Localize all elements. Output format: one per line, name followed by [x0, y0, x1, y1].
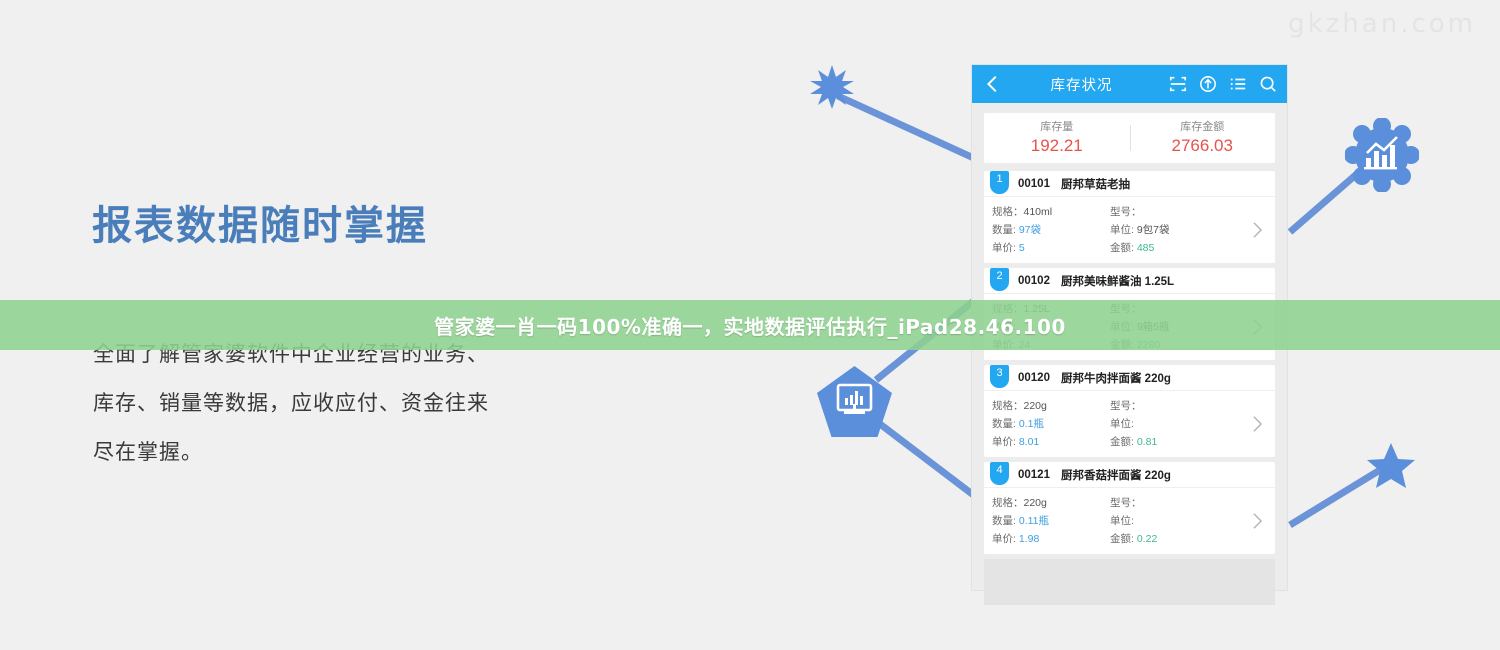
price-value: 5 [1019, 242, 1025, 254]
list-item[interactable]: 1 00101 厨邦草菇老抽 规格：410ml 型号： 数量: 97袋 单位: … [984, 171, 1275, 263]
model-label: 型号： [1110, 497, 1142, 509]
amount-value: 0.81 [1137, 436, 1157, 448]
item-name: 厨邦美味鲜酱油 1.25L [1061, 273, 1174, 289]
app-header-actions [1169, 75, 1277, 93]
list-item[interactable]: 3 00120 厨邦牛肉拌面酱 220g 规格：220g 型号： 数量: 0.1… [984, 365, 1275, 457]
spec-value: 220g [1024, 497, 1047, 509]
promo-banner-text: 管家婆一肖一码100%准确一，实地数据评估执行_iPad28.46.100 [0, 300, 1500, 350]
item-name: 厨邦草菇老抽 [1061, 176, 1130, 192]
summary-label: 库存金额 [1130, 119, 1276, 135]
chevron-left-icon[interactable] [982, 73, 1004, 95]
list-item-header: 1 00101 厨邦草菇老抽 [984, 171, 1275, 197]
scalloped-badge-chart-icon [1345, 118, 1419, 192]
qty-value: 0.11瓶 [1019, 515, 1049, 527]
summary-stock-qty: 库存量 192.21 [984, 119, 1130, 157]
list-item-details: 规格：220g 型号： 数量: 0.11瓶 单位: 单价: 1.98 金额: 0… [984, 488, 1275, 554]
detail-row: 数量: 97袋 单位: 9包7袋 [992, 221, 1275, 239]
star-icon [1366, 441, 1416, 491]
spec-label: 规格： [992, 400, 1024, 412]
amount-label: 金额: [1110, 436, 1134, 448]
unit-label: 单位: [1110, 418, 1134, 430]
item-name: 厨邦牛肉拌面酱 220g [1061, 370, 1171, 386]
chevron-right-icon[interactable] [1252, 221, 1263, 239]
summary-stock-amount: 库存金额 2766.03 [1130, 119, 1276, 157]
qty-label: 数量: [992, 224, 1016, 236]
detail-row: 规格：220g 型号： [992, 397, 1275, 415]
scan-frame-icon[interactable] [1169, 75, 1187, 93]
item-name: 厨邦香菇拌面酱 220g [1061, 467, 1171, 483]
item-index-badge: 1 [990, 171, 1009, 194]
promo-line-2: 库存、销量等数据，应收应付、资金往来 [93, 379, 489, 428]
detail-row: 单价: 5 金额: 485 [992, 239, 1275, 257]
price-value: 8.01 [1019, 436, 1039, 448]
summary-label: 库存量 [984, 119, 1130, 135]
list-item-header: 4 00121 厨邦香菇拌面酱 220g [984, 462, 1275, 488]
list-item-header: 3 00120 厨邦牛肉拌面酱 220g [984, 365, 1275, 391]
qty-label: 数量: [992, 418, 1016, 430]
spec-label: 规格： [992, 206, 1024, 218]
detail-row: 数量: 0.11瓶 单位: [992, 512, 1275, 530]
spec-value: 220g [1024, 400, 1047, 412]
amount-label: 金额: [1110, 533, 1134, 545]
chevron-right-icon[interactable] [1252, 415, 1263, 433]
search-icon[interactable] [1259, 75, 1277, 93]
detail-row: 单价: 1.98 金额: 0.22 [992, 530, 1275, 548]
app-footer-placeholder [984, 559, 1275, 605]
item-index-badge: 3 [990, 365, 1009, 388]
site-watermark: gkzhan.com [1288, 9, 1476, 39]
item-index-badge: 2 [990, 268, 1009, 291]
pentagon-monitor-chart-icon [817, 366, 892, 438]
unit-label: 单位: [1110, 515, 1134, 527]
list-item[interactable]: 4 00121 厨邦香菇拌面酱 220g 规格：220g 型号： 数量: 0.1… [984, 462, 1275, 554]
price-value: 1.98 [1019, 533, 1039, 545]
qty-value: 0.1瓶 [1019, 418, 1044, 430]
list-item-details: 规格：220g 型号： 数量: 0.1瓶 单位: 单价: 8.01 金额: 0.… [984, 391, 1275, 457]
summary-value: 192.21 [984, 135, 1130, 157]
item-index-badge: 4 [990, 462, 1009, 485]
page-title: 报表数据随时掌握 [92, 193, 428, 251]
promo-paragraph: 全面了解管家婆软件中企业经营的业务、 库存、销量等数据，应收应付、资金往来 尽在… [93, 330, 489, 477]
qty-label: 数量: [992, 515, 1016, 527]
unit-label: 单位: [1110, 224, 1134, 236]
model-label: 型号： [1110, 400, 1142, 412]
slide-canvas: gkzhan.com 报表数据随时掌握 全面了解管家婆软件中企业经营的业务、 库… [0, 0, 1500, 650]
detail-row: 数量: 0.1瓶 单位: [992, 415, 1275, 433]
sparkle-star-icon [807, 62, 857, 112]
promo-line-3: 尽在掌握。 [93, 428, 489, 477]
qty-value: 97袋 [1019, 224, 1041, 236]
amount-value: 0.22 [1137, 533, 1157, 545]
list-item-details: 规格：410ml 型号： 数量: 97袋 单位: 9包7袋 单价: 5 金额: … [984, 197, 1275, 263]
detail-row: 单价: 8.01 金额: 0.81 [992, 433, 1275, 451]
inventory-summary: 库存量 192.21 库存金额 2766.03 [984, 113, 1275, 163]
list-item-header: 2 00102 厨邦美味鲜酱油 1.25L [984, 268, 1275, 294]
inventory-list: 1 00101 厨邦草菇老抽 规格：410ml 型号： 数量: 97袋 单位: … [984, 171, 1275, 554]
item-code: 00120 [1018, 372, 1050, 384]
detail-row: 规格：220g 型号： [992, 494, 1275, 512]
amount-value: 485 [1137, 242, 1155, 254]
model-label: 型号： [1110, 206, 1142, 218]
arrow-up-circle-icon[interactable] [1199, 75, 1217, 93]
app-header: 库存状况 [972, 65, 1287, 103]
chevron-right-icon[interactable] [1252, 512, 1263, 530]
detail-row: 规格：410ml 型号： [992, 203, 1275, 221]
price-label: 单价: [992, 436, 1016, 448]
item-code: 00102 [1018, 275, 1050, 287]
unit-value: 9包7袋 [1137, 224, 1170, 236]
price-label: 单价: [992, 533, 1016, 545]
amount-label: 金额: [1110, 242, 1134, 254]
item-code: 00101 [1018, 178, 1050, 190]
price-label: 单价: [992, 242, 1016, 254]
summary-value: 2766.03 [1130, 135, 1276, 157]
list-icon[interactable] [1229, 75, 1247, 93]
spec-value: 410ml [1024, 206, 1053, 218]
spec-label: 规格： [992, 497, 1024, 509]
item-code: 00121 [1018, 469, 1050, 481]
